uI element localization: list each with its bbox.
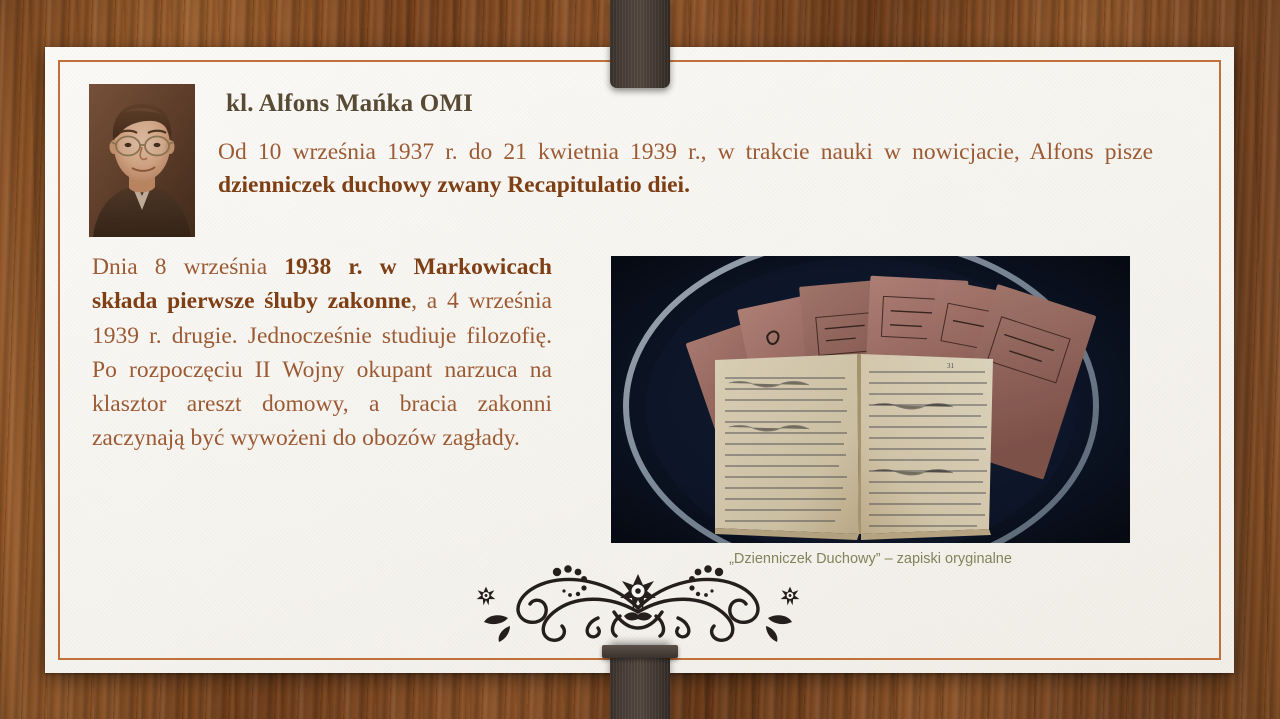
decorative-floral-flourish bbox=[438, 556, 838, 646]
diary-photo-image: 31 bbox=[611, 256, 1130, 543]
hanging-strap-top bbox=[610, 0, 670, 88]
portrait-photo-alfons-manka bbox=[89, 84, 195, 237]
plain-text: Od 10 września 1937 r. do 21 kwietnia 19… bbox=[218, 139, 1153, 165]
portrait-image bbox=[89, 84, 195, 237]
photo-handwritten-diary-notebooks: 31 bbox=[611, 256, 1130, 543]
flourish-icon bbox=[438, 556, 838, 646]
slide-canvas: kl. Alfons Mańka OMI Od 10 września 1937… bbox=[0, 0, 1280, 719]
emphasized-text: dzienniczek duchowy zwany Recapitulatio … bbox=[218, 172, 690, 198]
hanging-strap-bottom-cap bbox=[602, 645, 678, 658]
page-title: kl. Alfons Mańka OMI bbox=[226, 90, 473, 118]
plain-text: Dnia 8 września bbox=[92, 254, 284, 280]
paragraph-top: Od 10 września 1937 r. do 21 kwietnia 19… bbox=[218, 136, 1153, 203]
paragraph-left: Dnia 8 września 1938 r. w Markowicach sk… bbox=[92, 250, 552, 456]
